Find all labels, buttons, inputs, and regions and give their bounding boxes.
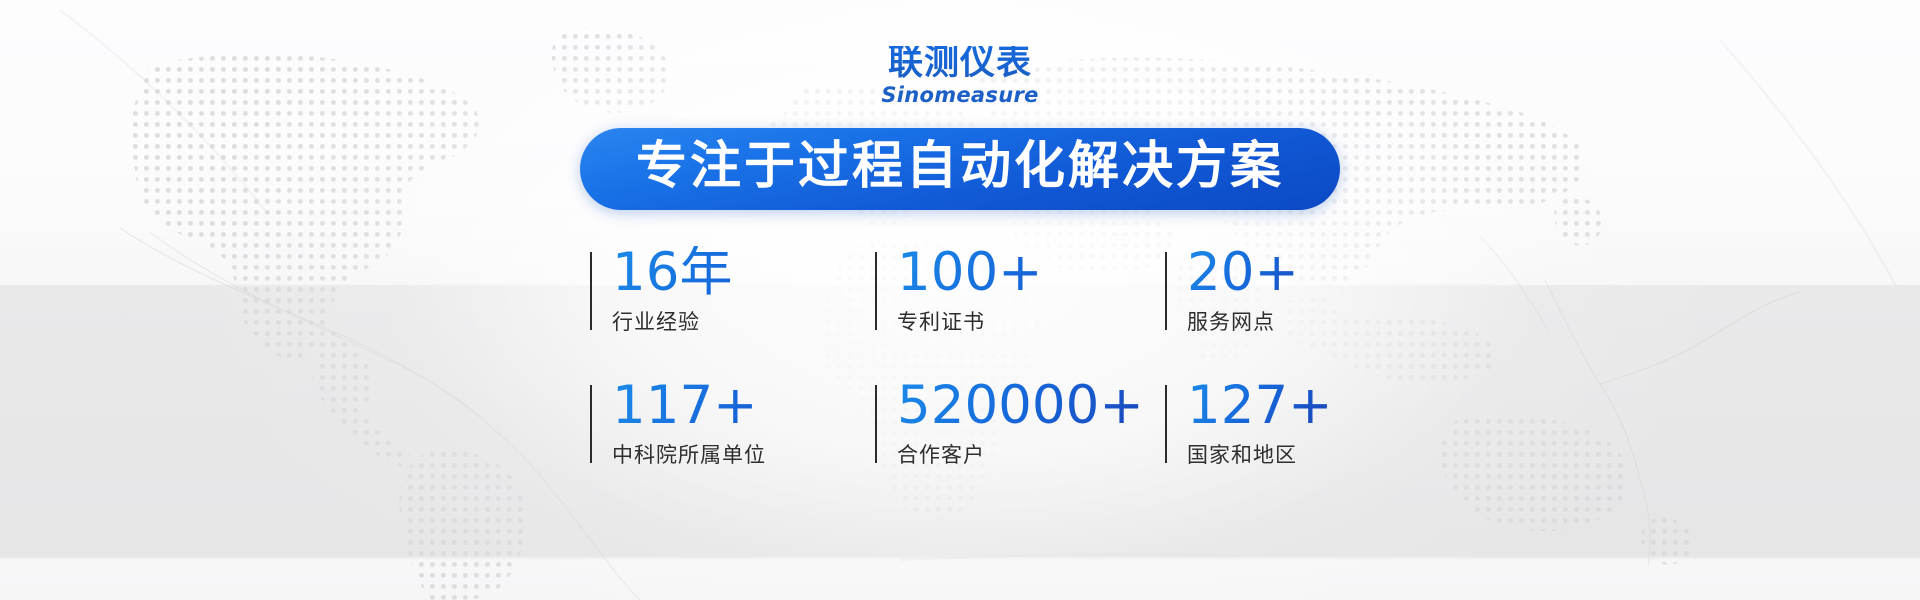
stat-value: 16年	[612, 246, 875, 300]
stat-value: 520000+	[897, 379, 1165, 433]
headline-text: 专注于过程自动化解决方案	[636, 139, 1284, 195]
stat-label: 服务网点	[1187, 306, 1330, 336]
stat-item-service-sites: 20+ 服务网点	[1165, 246, 1330, 379]
stat-value: 20+	[1187, 246, 1330, 300]
brand-logo: 联测仪表 Sinomeasure	[0, 46, 1920, 106]
stat-rule	[1165, 385, 1167, 463]
stat-value: 100+	[897, 246, 1165, 300]
stat-label: 中科院所属单位	[612, 439, 875, 469]
stat-label: 合作客户	[897, 439, 1165, 469]
stat-item-cas-units: 117+ 中科院所属单位	[590, 379, 875, 469]
stat-item-patents: 100+ 专利证书	[875, 246, 1165, 379]
stats-grid: 16年 行业经验 100+ 专利证书 20+ 服务网点 117+ 中科院所属单位	[590, 246, 1330, 469]
headline-pill: 专注于过程自动化解决方案	[580, 128, 1340, 210]
stat-rule	[590, 252, 592, 330]
brand-name-en: Sinomeasure	[0, 85, 1920, 106]
stat-item-customers: 520000+ 合作客户	[875, 379, 1165, 469]
stat-item-experience: 16年 行业经验	[590, 246, 875, 379]
stat-label: 专利证书	[897, 306, 1165, 336]
stat-value: 117+	[612, 379, 875, 433]
headline-container: 专注于过程自动化解决方案	[0, 128, 1920, 210]
stat-rule	[1165, 252, 1167, 330]
stat-rule	[875, 385, 877, 463]
stat-rule	[875, 252, 877, 330]
banner-content: 联测仪表 Sinomeasure 专注于过程自动化解决方案 16年 行业经验 1…	[0, 0, 1920, 600]
stat-label: 行业经验	[612, 306, 875, 336]
stat-rule	[590, 385, 592, 463]
stat-value: 127+	[1187, 379, 1330, 433]
hero-banner: 联测仪表 Sinomeasure 专注于过程自动化解决方案 16年 行业经验 1…	[0, 0, 1920, 600]
brand-name-cn: 联测仪表	[888, 46, 1032, 81]
stat-item-countries: 127+ 国家和地区	[1165, 379, 1330, 469]
stat-label: 国家和地区	[1187, 439, 1330, 469]
